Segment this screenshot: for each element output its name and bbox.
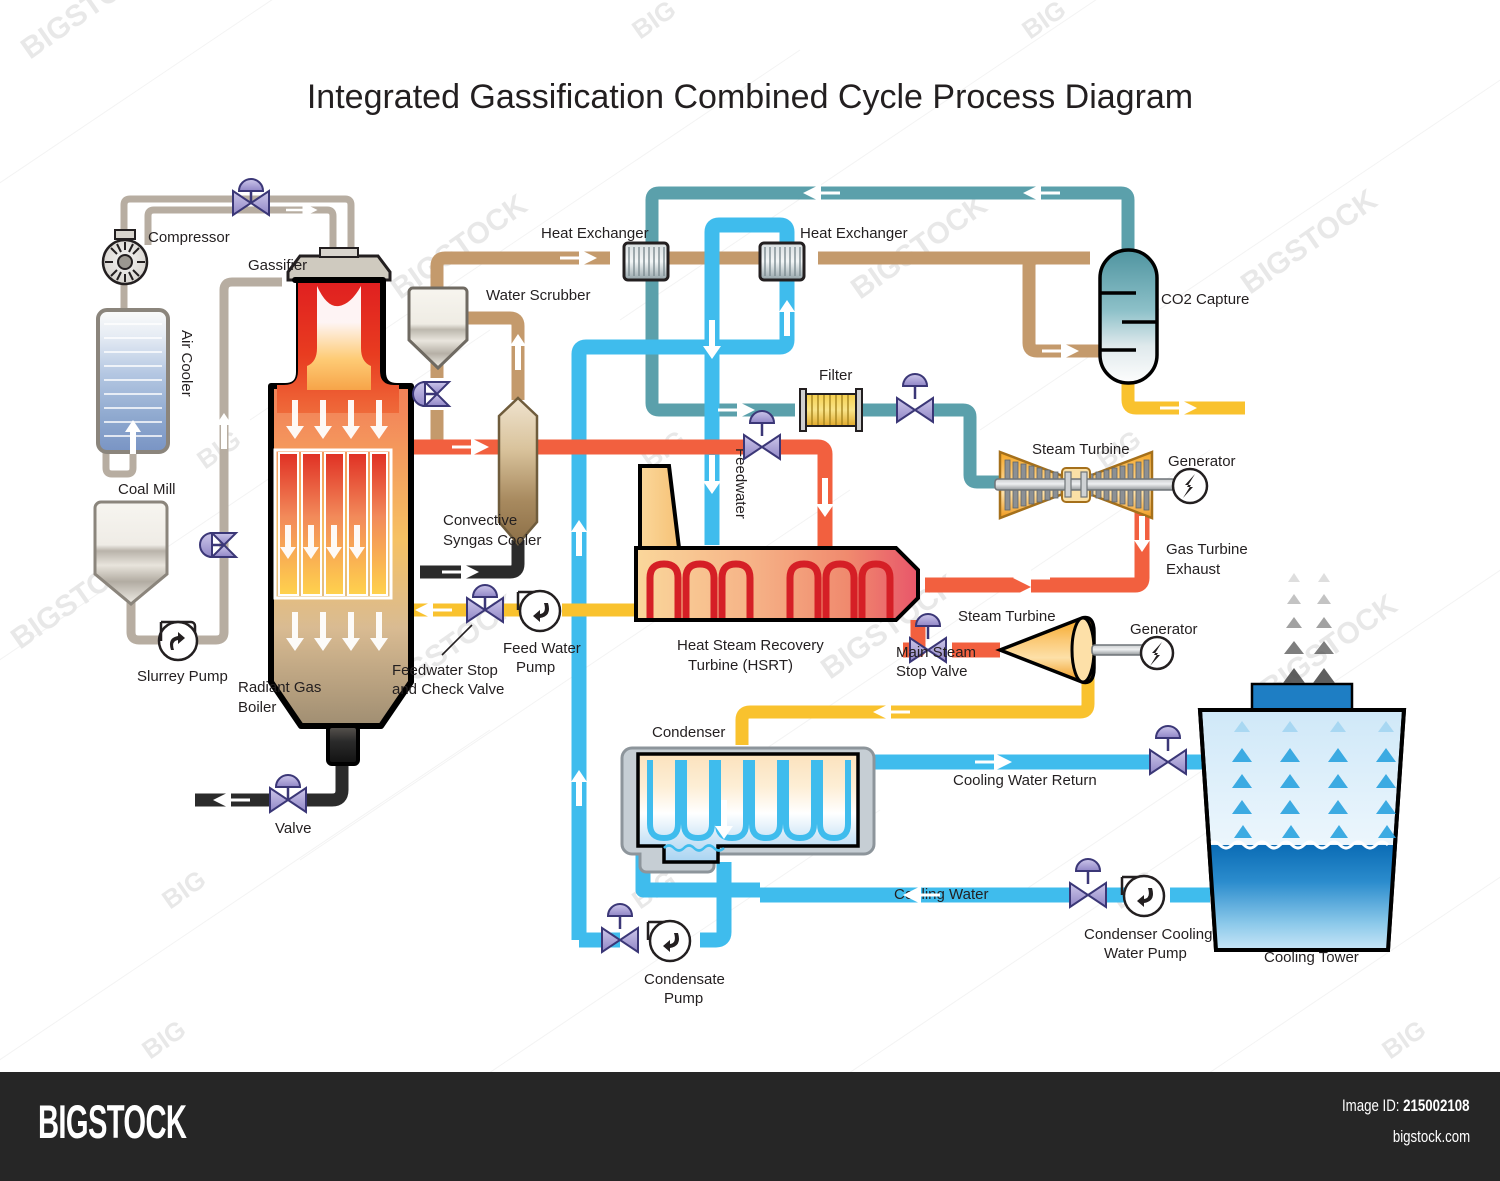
condenser-label: Condenser bbox=[652, 724, 725, 741]
water-scrubber-label: Water Scrubber bbox=[486, 287, 590, 304]
filter-label: Filter bbox=[819, 367, 852, 384]
hsrt-label-2: Turbine (HSRT) bbox=[688, 657, 793, 674]
feedwater-label: Feedwater bbox=[732, 448, 749, 519]
page-title: Integrated Gassification Combined Cycle … bbox=[307, 78, 1193, 116]
gas-turbine-exhaust-label-2: Exhaust bbox=[1166, 561, 1221, 578]
water-scrubber bbox=[409, 288, 467, 368]
condenser bbox=[622, 748, 874, 872]
svg-text:BIG: BIG bbox=[1016, 0, 1071, 45]
air-cooler-label: Air Cooler bbox=[178, 330, 195, 397]
valve-cooling-water-return[interactable] bbox=[1150, 726, 1186, 774]
steam-turbine-label: Steam Turbine bbox=[958, 608, 1056, 625]
gas-turbine-label: Steam Turbine bbox=[1032, 441, 1130, 458]
heat-exchanger-1 bbox=[624, 243, 668, 280]
condensate-pump-label-1: Condensate bbox=[644, 971, 725, 988]
generator-gas-label: Generator bbox=[1168, 453, 1236, 470]
svg-text:BIGSTOCK: BIGSTOCK bbox=[1235, 183, 1383, 301]
svg-text:BIG: BIG bbox=[136, 1014, 191, 1065]
cooling-water-label: Cooling Water bbox=[894, 886, 988, 903]
valve-hsrt-inlet[interactable] bbox=[744, 411, 780, 459]
main-steam-stop-label-2: Stop Valve bbox=[896, 663, 967, 680]
generator-icon-steam bbox=[1141, 637, 1173, 669]
convective-syngas-cooler-label-1: Convective bbox=[443, 512, 517, 529]
svg-text:BIG: BIG bbox=[626, 0, 681, 45]
feed-water-pump-label-2: Pump bbox=[516, 659, 555, 676]
heat-exchanger-1-label: Heat Exchanger bbox=[541, 225, 649, 242]
condenser-cooling-pump-label-1: Condenser Cooling bbox=[1084, 926, 1212, 943]
svg-text:BIGSTOCK: BIGSTOCK bbox=[15, 0, 163, 66]
feed-water-pump-label-1: Feed Water bbox=[503, 640, 581, 657]
image-id-label: Image ID: bbox=[1342, 1096, 1399, 1115]
convective-syngas-cooler-label-2: Syngas Cooler bbox=[443, 532, 541, 549]
valve-label: Valve bbox=[275, 820, 311, 837]
radiant-gas-boiler-label-2: Boiler bbox=[238, 699, 276, 716]
valve-slag-line[interactable] bbox=[270, 775, 306, 812]
bigstock-domain: bigstock.com bbox=[1393, 1127, 1470, 1147]
condenser-cooling-water-pump-icon[interactable] bbox=[1122, 876, 1164, 916]
compressor-label: Compressor bbox=[148, 229, 230, 246]
valve-filter-outlet[interactable] bbox=[897, 374, 933, 422]
valve-cooling-water-supply[interactable] bbox=[1070, 859, 1106, 907]
feedwater-stop-label-2: and Check Valve bbox=[392, 681, 504, 698]
condensate-pump-icon[interactable] bbox=[648, 921, 690, 961]
svg-text:BIG: BIG bbox=[1376, 1014, 1431, 1065]
diagram-canvas: BIGSTOCK BIG BIG BIGSTOCK BIGSTOCK BIGST… bbox=[0, 0, 1500, 1181]
bigstock-footer: BIGSTOCK Image ID: 215002108 bigstock.co… bbox=[0, 1072, 1500, 1181]
svg-text:BIG: BIG bbox=[156, 864, 211, 915]
heat-exchanger-2 bbox=[760, 243, 804, 280]
gassifier-label: Gassifier bbox=[248, 257, 307, 274]
main-steam-stop-label-1: Main Steam bbox=[896, 644, 976, 661]
hsrt-label-1: Heat Steam Recovery bbox=[677, 637, 824, 654]
heat-steam-recovery-turbine bbox=[636, 466, 918, 620]
co2-capture-vessel bbox=[1100, 250, 1157, 383]
image-id-value: 215002108 bbox=[1404, 1096, 1470, 1115]
slurry-pump-label: Slurrey Pump bbox=[137, 668, 228, 685]
coal-mill-label: Coal Mill bbox=[118, 481, 176, 498]
condensate-pump-label-2: Pump bbox=[664, 990, 703, 1007]
bigstock-logo: BIGSTOCK bbox=[38, 1094, 186, 1149]
process-flow-diagram: BIGSTOCK BIG BIG BIGSTOCK BIGSTOCK BIGST… bbox=[0, 0, 1500, 1181]
gas-turbine-exhaust-label-1: Gas Turbine bbox=[1166, 541, 1248, 558]
filter-icon bbox=[800, 389, 862, 431]
cooling-water-return-label: Cooling Water Return bbox=[953, 772, 1097, 789]
feedwater-stop-label-1: Feedwater Stop bbox=[392, 662, 498, 679]
radiant-gas-boiler-label-1: Radiant Gas bbox=[238, 679, 321, 696]
image-id-line: Image ID: 215002108 bbox=[1342, 1096, 1470, 1116]
slurry-pump-icon bbox=[159, 622, 197, 660]
feed-water-pump-icon[interactable] bbox=[518, 591, 560, 631]
cooling-tower-label: Cooling Tower bbox=[1264, 949, 1359, 966]
svg-text:BIGSTOCK: BIGSTOCK bbox=[845, 188, 993, 306]
generator-steam-label: Generator bbox=[1130, 621, 1198, 638]
condenser-cooling-pump-label-2: Water Pump bbox=[1104, 945, 1187, 962]
heat-exchanger-2-label: Heat Exchanger bbox=[800, 225, 908, 242]
co2-capture-label: CO2 Capture bbox=[1161, 291, 1249, 308]
valve-scrubber-drain[interactable] bbox=[413, 382, 449, 406]
gas-turbine bbox=[995, 452, 1175, 518]
generator-icon-gas bbox=[1173, 469, 1207, 503]
svg-text:BIG: BIG bbox=[191, 424, 246, 475]
valve-slurry-line[interactable] bbox=[200, 533, 236, 557]
compressor-icon bbox=[103, 230, 147, 284]
